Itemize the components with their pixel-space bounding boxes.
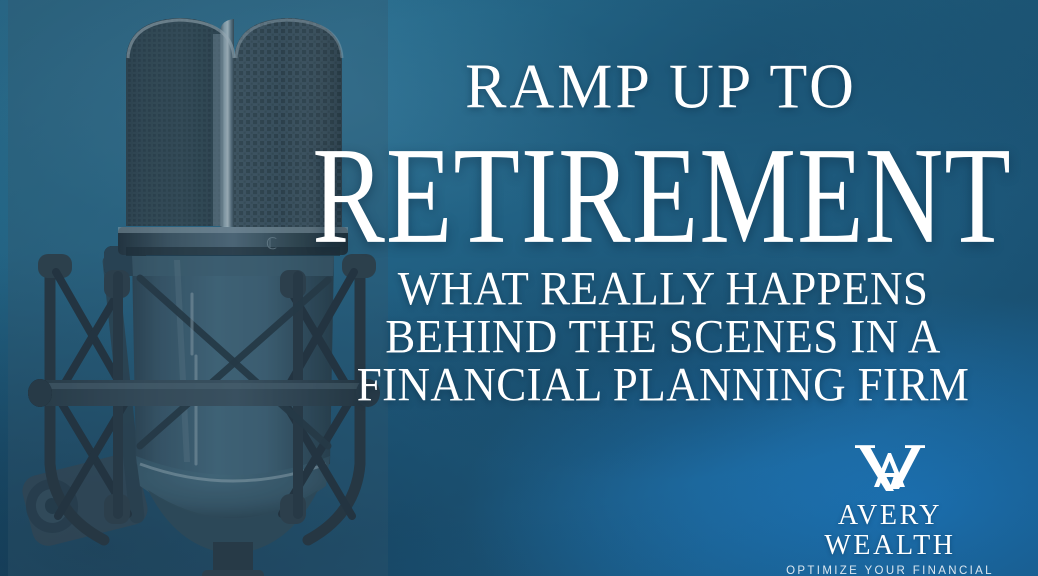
subtitle-line-1: WHAT REALLY HAPPENS	[300, 264, 1026, 314]
eyebrow-text: RAMP UP TO	[300, 55, 1022, 118]
podcast-cover-art: ℂ	[0, 0, 1038, 576]
page-title: RETIREMENT	[304, 126, 1021, 265]
subtitle-line-3: FINANCIAL PLANNING FIRM	[300, 360, 1026, 410]
aw-monogram-icon	[853, 443, 927, 495]
title-block: RAMP UP TO RETIREMENT WHAT REALLY HAPPEN…	[300, 0, 1030, 430]
brand-logo: AVERY WEALTH OPTIMIZE YOUR FINANCIAL FUT…	[770, 443, 1010, 576]
logo-wordmark: AVERY WEALTH	[770, 501, 1010, 561]
logo-tagline: OPTIMIZE YOUR FINANCIAL FUTURE	[770, 564, 1010, 576]
subtitle: WHAT REALLY HAPPENS BEHIND THE SCENES IN…	[300, 265, 1026, 409]
subtitle-line-2: BEHIND THE SCENES IN A	[300, 312, 1026, 362]
